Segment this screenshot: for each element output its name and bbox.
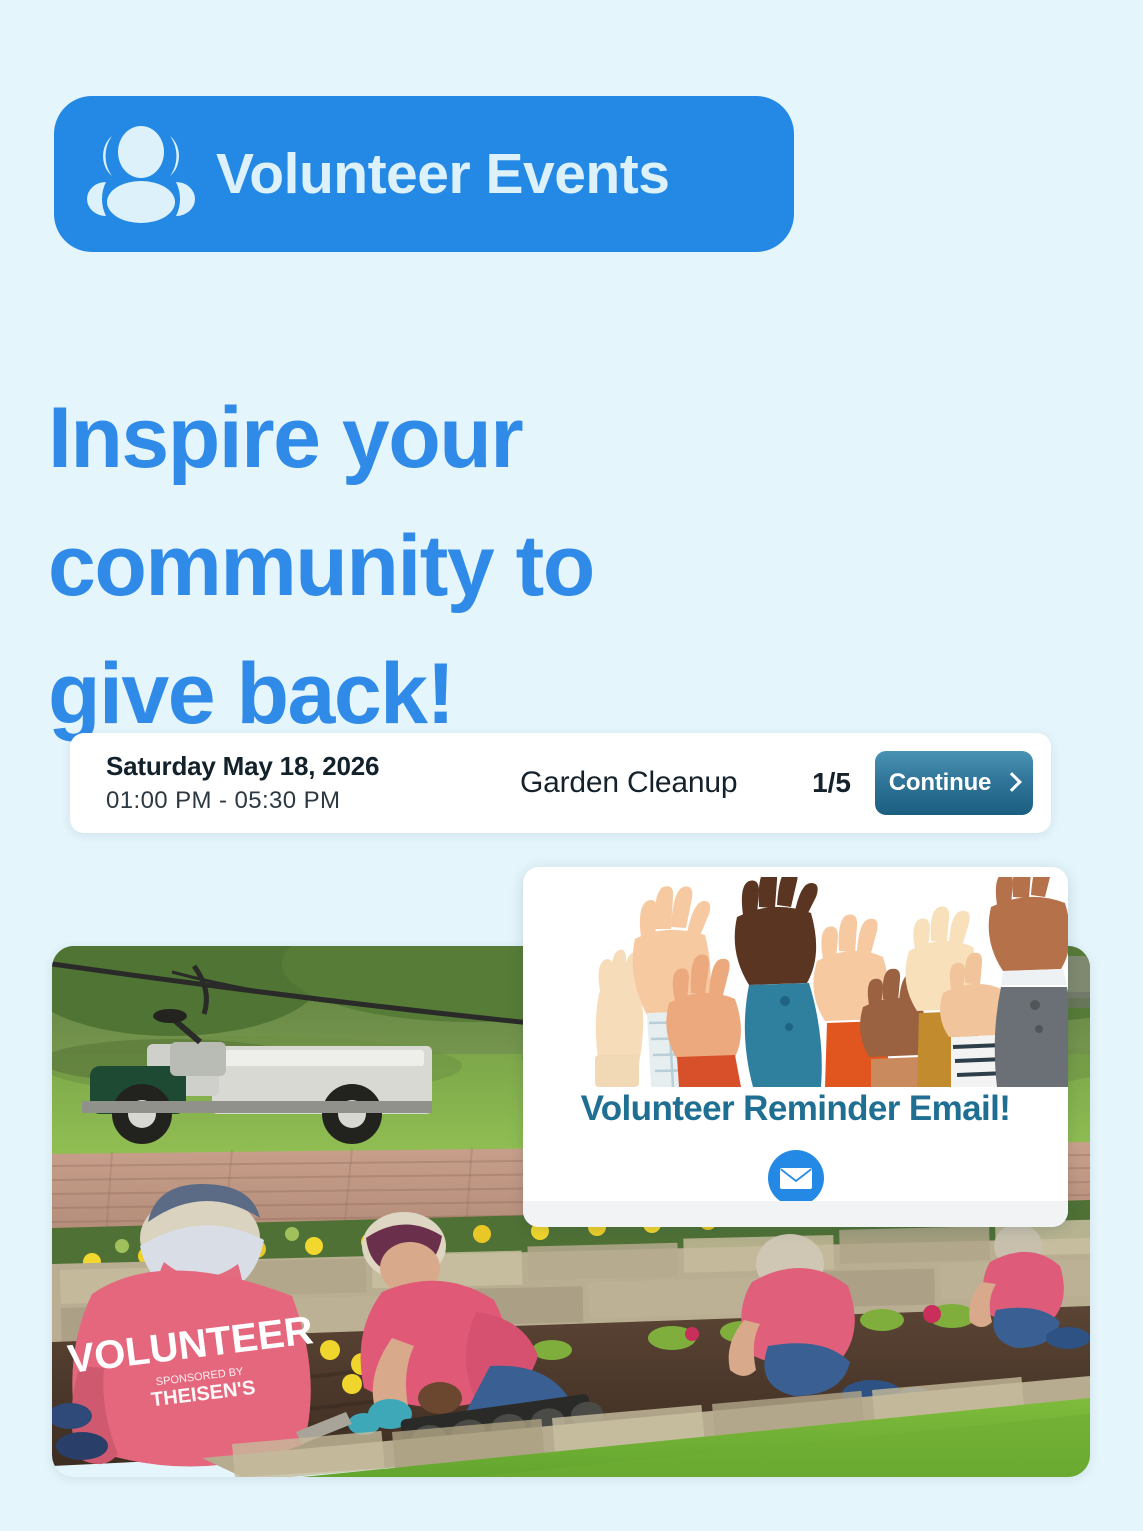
event-card[interactable]: Saturday May 18, 2026 01:00 PM - 05:30 P… [70,733,1051,833]
envelope-icon[interactable] [767,1149,825,1207]
reminder-card-title: Volunteer Reminder Email! [523,1089,1068,1129]
continue-button[interactable]: Continue [875,751,1033,815]
event-date: Saturday May 18, 2026 [106,750,496,783]
event-name: Garden Cleanup [496,766,812,800]
event-when: Saturday May 18, 2026 01:00 PM - 05:30 P… [106,750,496,817]
chevron-right-icon [1002,772,1022,792]
event-time-range: 01:00 PM - 05:30 PM [106,785,496,816]
reminder-card-footer [523,1201,1068,1227]
volunteer-events-badge: Volunteer Events [54,96,794,252]
page-headline: Inspire your community to give back! [48,374,768,758]
volunteer-reminder-card[interactable]: Volunteer Reminder Email! [523,867,1068,1227]
raised-hands-illustration [523,877,1068,1087]
people-group-icon [82,124,200,224]
event-counter: 1/5 [812,767,851,799]
continue-button-label: Continue [889,769,991,797]
badge-title: Volunteer Events [216,141,669,207]
